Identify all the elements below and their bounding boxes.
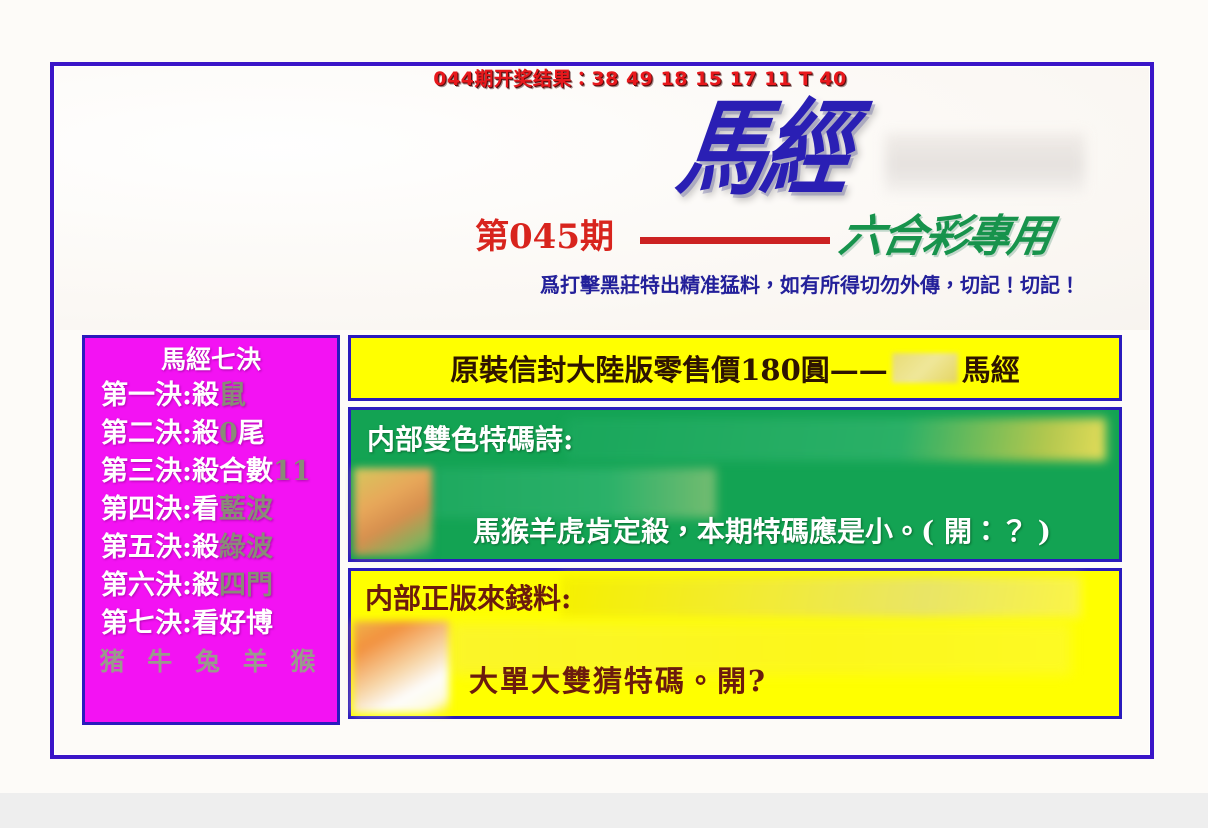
qijue-row-5: 第五決:殺綠波 bbox=[85, 529, 337, 567]
yellow-band: 内部正版來錢料: 大單大雙猜特碼。開? bbox=[348, 568, 1122, 719]
issue-row: 第045期 六合彩專用 bbox=[475, 213, 1145, 265]
qijue-row-2: 第二決:殺0尾 bbox=[85, 415, 337, 453]
qijue-row-6: 第六決:殺四門 bbox=[85, 567, 337, 605]
qijue-row-2-tail: 尾 bbox=[238, 418, 265, 449]
brand-logo: 馬經 bbox=[672, 91, 856, 204]
qijue-row-2-highlight: 0 bbox=[219, 418, 238, 449]
qijue-panel: 馬經七決 第一決:殺鼠 第二決:殺0尾 第三決:殺合數11 第四決:看藍波 第五… bbox=[82, 335, 340, 725]
qijue-row-4: 第四決:看藍波 bbox=[85, 491, 337, 529]
price-suffix: 馬經 bbox=[962, 347, 1020, 389]
qijue-row-5-highlight: 綠波 bbox=[219, 532, 273, 563]
green-band: 内部雙色特碼詩: 馬猴羊虎肯定殺，本期特碼應是小。( 開：？ ) bbox=[348, 407, 1122, 562]
qijue-row-6-label: 第六決:殺 bbox=[101, 570, 219, 601]
qijue-row-1: 第一決:殺鼠 bbox=[85, 377, 337, 415]
yellow-band-heading: 内部正版來錢料: bbox=[365, 581, 571, 617]
price-prefix: 原裝信封大陸版零售價180圓—— bbox=[450, 347, 888, 389]
price-redaction-patch bbox=[892, 353, 958, 383]
price-band: 原裝信封大陸版零售價180圓—— 馬經 bbox=[348, 335, 1122, 401]
qijue-title: 馬經七決 bbox=[85, 343, 337, 377]
issue-rule-divider bbox=[640, 237, 830, 244]
yellow-gradient-swatch bbox=[353, 621, 449, 713]
lottery-slogan: 六合彩專用 bbox=[835, 209, 1055, 265]
qijue-row-5-label: 第五決:殺 bbox=[101, 532, 219, 563]
yellow-blur-patch-top bbox=[561, 576, 1081, 618]
masthead: 馬經 第045期 六合彩專用 爲打擊黑莊特出精准猛料，如有所得切勿外傳，切記！切… bbox=[455, 95, 1145, 320]
green-band-heading: 内部雙色特碼詩: bbox=[367, 422, 573, 458]
green-band-line: 馬猴羊虎肯定殺，本期特碼應是小。( 開：？ ) bbox=[429, 508, 1109, 552]
qijue-row-1-highlight: 鼠 bbox=[219, 380, 246, 411]
green-gradient-swatch bbox=[354, 468, 432, 556]
qijue-row-6-highlight: 四門 bbox=[219, 570, 273, 601]
qijue-row-4-highlight: 藍波 bbox=[219, 494, 273, 525]
page-root: 044期开奖结果：38 49 18 15 17 11 T 40 馬經 第045期… bbox=[0, 0, 1208, 828]
qijue-row-1-label: 第一決:殺 bbox=[101, 380, 219, 411]
qijue-row-7-label: 第七決:看好博 bbox=[101, 608, 273, 639]
green-blur-patch-top bbox=[566, 418, 1106, 461]
price-text: 原裝信封大陸版零售價180圓—— 馬經 bbox=[351, 338, 1119, 398]
qijue-row-2-label: 第二決:殺 bbox=[101, 418, 219, 449]
right-column: 原裝信封大陸版零售價180圓—— 馬經 内部雙色特碼詩: 馬猴羊虎肯定殺，本期特… bbox=[348, 335, 1122, 725]
qijue-row-3-label: 第三決:殺合數 bbox=[101, 456, 273, 487]
footer-watermark: ·· ·-· ·· ······ ·· ·· ··· bbox=[330, 800, 850, 818]
masthead-tagline: 爲打擊黑莊特出精准猛料，如有所得切勿外傳，切記！切記！ bbox=[475, 271, 1145, 299]
qijue-row-7: 第七決:看好博 bbox=[85, 605, 337, 643]
issue-number: 第045期 bbox=[475, 213, 614, 261]
qijue-animals: 猪 牛 兔 羊 猴 bbox=[85, 645, 337, 679]
content-area: 馬經七決 第一決:殺鼠 第二決:殺0尾 第三決:殺合數11 第四決:看藍波 第五… bbox=[82, 335, 1122, 725]
yellow-band-line: 大單大雙猜特碼。開? bbox=[451, 657, 1101, 701]
qijue-row-3: 第三決:殺合數11 bbox=[85, 453, 337, 491]
logo-blur-patch bbox=[885, 133, 1085, 193]
qijue-row-4-label: 第四決:看 bbox=[101, 494, 219, 525]
qijue-row-3-highlight: 11 bbox=[273, 456, 311, 487]
